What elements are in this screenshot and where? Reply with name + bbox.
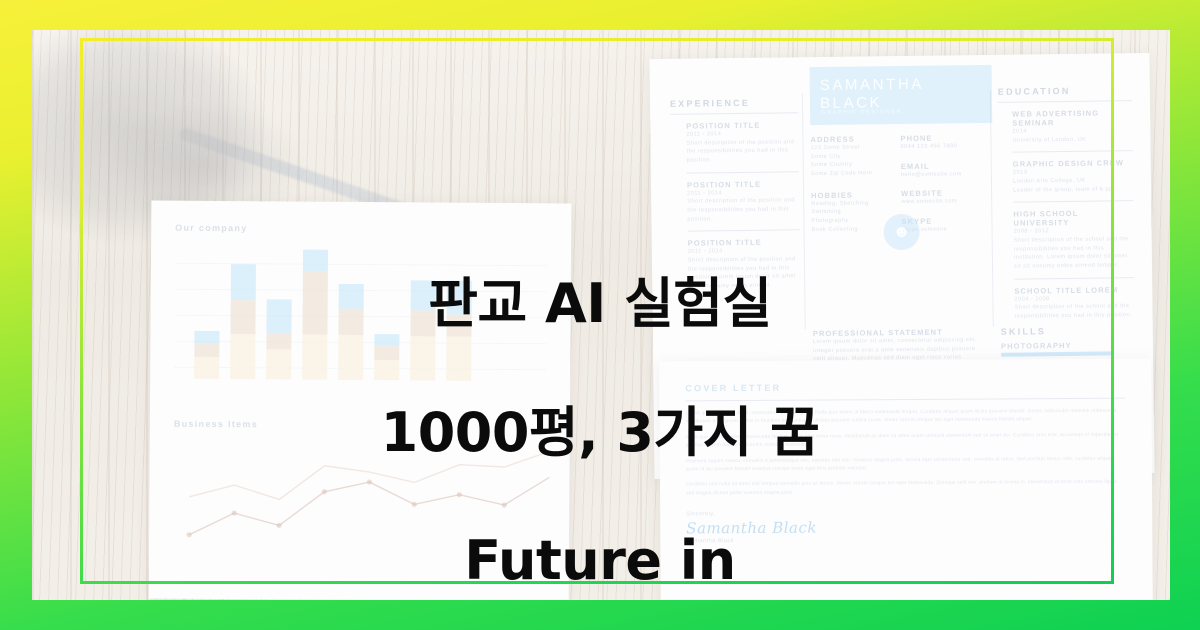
education-place: University of London, UK bbox=[1012, 135, 1132, 145]
divider bbox=[998, 100, 1132, 103]
thumbnail-canvas: SAMANTHABLACK GRAPHIC DESIGNER EXPERIENC… bbox=[0, 0, 1200, 630]
page-title: 판교 AI 실험실 1000평, 3가지 꿈 Future in bbox=[0, 208, 1200, 630]
divider bbox=[1013, 200, 1133, 202]
experience-heading: EXPERIENCE bbox=[670, 97, 798, 109]
divider bbox=[687, 171, 799, 173]
resume-role: GRAPHIC DESIGNER bbox=[821, 109, 902, 116]
headline-line-3: Future in bbox=[0, 529, 1200, 593]
education-title: GRAPHIC DESIGN CREW bbox=[1013, 158, 1133, 168]
resume-name: SAMANTHABLACK bbox=[820, 76, 925, 113]
list-item: WEB ADVERTISING SEMINAR 2014 University … bbox=[998, 108, 1132, 145]
divider bbox=[1013, 150, 1133, 152]
education-extra: Leader of the group, team of 6 ppl. bbox=[1013, 185, 1133, 195]
list-item: GRAPHIC DESIGN CREW 2013 London Arts Col… bbox=[999, 158, 1133, 195]
address-value: 123 Some Street Some City Some Country S… bbox=[811, 143, 889, 179]
education-heading: EDUCATION bbox=[998, 85, 1132, 97]
headline-line-2: 1000평, 3가지 꿈 bbox=[0, 401, 1200, 465]
position-desc: Short description of the position and th… bbox=[686, 138, 798, 165]
list-item: POSITION TITLE 2011 - 2014 Short descrip… bbox=[670, 120, 799, 165]
resume-name-block: SAMANTHABLACK GRAPHIC DESIGNER bbox=[810, 65, 993, 125]
education-title: WEB ADVERTISING SEMINAR bbox=[1012, 108, 1132, 127]
headline-line-1: 판교 AI 실험실 bbox=[0, 272, 1200, 336]
divider bbox=[670, 112, 798, 115]
